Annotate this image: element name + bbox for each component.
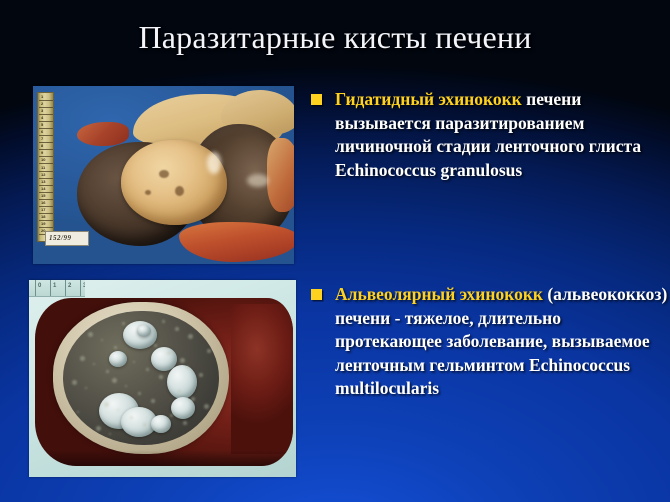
ruler-tick-label: 4 bbox=[41, 116, 43, 120]
ruler-tick-label: 15 bbox=[41, 194, 45, 198]
ruler-tick bbox=[80, 280, 81, 296]
granular-tissue bbox=[149, 431, 151, 433]
bullet-highlight-term: Альвеолярный эхинококк bbox=[335, 284, 543, 304]
granular-tissue bbox=[93, 363, 95, 365]
ruler-tick-label: 2 bbox=[41, 102, 43, 106]
granular-tissue bbox=[104, 402, 109, 407]
granular-tissue bbox=[180, 358, 185, 363]
liver-parenchyma bbox=[231, 304, 293, 454]
ruler-tick-label: 16 bbox=[41, 201, 45, 205]
fibrous-capsule bbox=[53, 302, 229, 454]
granular-tissue bbox=[188, 334, 193, 339]
granular-tissue bbox=[88, 332, 93, 337]
ruler-tick-label: 14 bbox=[41, 187, 45, 191]
granular-tissue bbox=[186, 366, 189, 369]
measuring-tape: 1234567891011121314151617181920 bbox=[37, 92, 54, 242]
granular-tissue bbox=[162, 320, 165, 323]
connective-tissue-lower bbox=[179, 222, 294, 262]
bullet-item-alveolar: Альвеолярный эхинококк (альвеококкоз) пе… bbox=[311, 283, 669, 401]
cyst-highlight bbox=[207, 152, 221, 174]
bullet-text-alveolar: Альвеолярный эхинококк (альвеококкоз) пе… bbox=[335, 283, 669, 401]
granular-tissue bbox=[199, 373, 203, 377]
granular-tissue bbox=[183, 421, 187, 425]
ruler-tick bbox=[65, 280, 66, 296]
granular-tissue bbox=[170, 414, 173, 417]
measuring-ruler: 0123 bbox=[29, 280, 85, 297]
square-bullet-icon bbox=[311, 94, 322, 105]
granular-tissue bbox=[112, 378, 117, 383]
granular-tissue bbox=[159, 375, 163, 379]
granular-tissue bbox=[138, 392, 141, 395]
lobe-highlight bbox=[247, 174, 269, 187]
cyst-surface-spot bbox=[159, 170, 169, 178]
presentation-slide: Паразитарные кисты печени 12345678910111… bbox=[0, 0, 670, 502]
bullet-text-hydatid: Гидатидный эхинококк печени вызывается п… bbox=[335, 88, 669, 182]
cyst-surface-spot bbox=[145, 190, 151, 195]
figure-alveolar-specimen: 0123 bbox=[29, 280, 296, 477]
bullet-item-hydatid: Гидатидный эхинококк печени вызывается п… bbox=[311, 88, 669, 182]
specimen-label-text: 152/99 bbox=[49, 234, 71, 243]
granular-tissue bbox=[96, 426, 101, 431]
granular-tissue bbox=[204, 404, 209, 409]
ruler-tick-label: 6 bbox=[41, 130, 43, 134]
granular-tissue bbox=[191, 397, 195, 401]
ruler-tick-label: 1 bbox=[53, 283, 56, 290]
granular-tissue bbox=[75, 325, 79, 329]
granular-tissue bbox=[130, 416, 133, 419]
granular-tissue bbox=[175, 327, 179, 331]
granular-tissue bbox=[196, 428, 201, 433]
ruler-tick bbox=[50, 280, 51, 296]
granular-tissue bbox=[114, 346, 117, 349]
granular-tissue bbox=[101, 339, 103, 341]
granular-tissue bbox=[109, 433, 111, 435]
ruler-tick-label: 3 bbox=[41, 109, 43, 113]
granular-tissue bbox=[106, 370, 109, 373]
liver-specimen bbox=[71, 94, 293, 259]
ruler-tick-label: 8 bbox=[41, 144, 43, 148]
ruler-tick-label: 18 bbox=[41, 215, 45, 219]
alveolar-cyst bbox=[137, 325, 151, 337]
ruler-tick-label: 10 bbox=[41, 158, 45, 162]
granular-tissue bbox=[178, 390, 181, 393]
liver-cut-section bbox=[35, 298, 293, 466]
granular-tissue bbox=[117, 409, 119, 411]
granular-tissue bbox=[154, 344, 157, 347]
ruler-tick-label: 2 bbox=[68, 283, 71, 290]
granular-tissue bbox=[207, 349, 211, 353]
granular-tissue bbox=[151, 399, 155, 403]
ruler-tick-label: 1 bbox=[41, 95, 43, 99]
granular-tissue bbox=[77, 411, 79, 413]
figure-hydatid-specimen: 1234567891011121314151617181920 152/99 bbox=[33, 86, 294, 264]
cyst-surface-spot bbox=[175, 186, 184, 196]
square-bullet-icon bbox=[311, 289, 322, 300]
ruler-tick-label: 3 bbox=[83, 283, 85, 290]
ruler-tick-label: 0 bbox=[38, 283, 41, 290]
specimen-label-card: 152/99 bbox=[45, 231, 89, 246]
cyst-cavity bbox=[63, 311, 219, 445]
ruler-tick-label: 13 bbox=[41, 180, 45, 184]
granular-tissue bbox=[72, 380, 77, 385]
ruler-tick-label: 9 bbox=[41, 151, 43, 155]
granular-tissue bbox=[69, 317, 71, 319]
ruler-tick-label: 7 bbox=[41, 137, 43, 141]
alveolar-cyst bbox=[151, 415, 171, 433]
specimen-shadow bbox=[35, 450, 293, 466]
granular-tissue bbox=[122, 322, 125, 325]
ruler-tick-label: 5 bbox=[41, 123, 43, 127]
granular-tissue bbox=[167, 351, 171, 355]
granular-tissue bbox=[146, 368, 149, 371]
ruler-tick bbox=[35, 280, 36, 296]
granular-tissue bbox=[133, 361, 135, 363]
bullet-highlight-term: Гидатидный эхинококк bbox=[335, 89, 522, 109]
ruler-tick-label: 11 bbox=[41, 166, 45, 170]
page-title: Паразитарные кисты печени bbox=[0, 18, 670, 56]
granular-tissue bbox=[80, 356, 85, 361]
ruler-tick bbox=[39, 163, 54, 164]
alveolar-cyst bbox=[167, 365, 197, 399]
granular-tissue bbox=[143, 423, 147, 427]
vascular-tissue bbox=[77, 122, 129, 146]
ruler-tick-label: 12 bbox=[41, 173, 45, 177]
granular-tissue bbox=[85, 387, 87, 389]
alveolar-cyst bbox=[109, 351, 127, 367]
ruler-tick-label: 17 bbox=[41, 208, 45, 212]
connective-tissue-right bbox=[267, 138, 294, 212]
granular-tissue bbox=[141, 337, 143, 339]
ruler-tick-label: 19 bbox=[41, 222, 45, 226]
granular-tissue bbox=[125, 385, 127, 387]
